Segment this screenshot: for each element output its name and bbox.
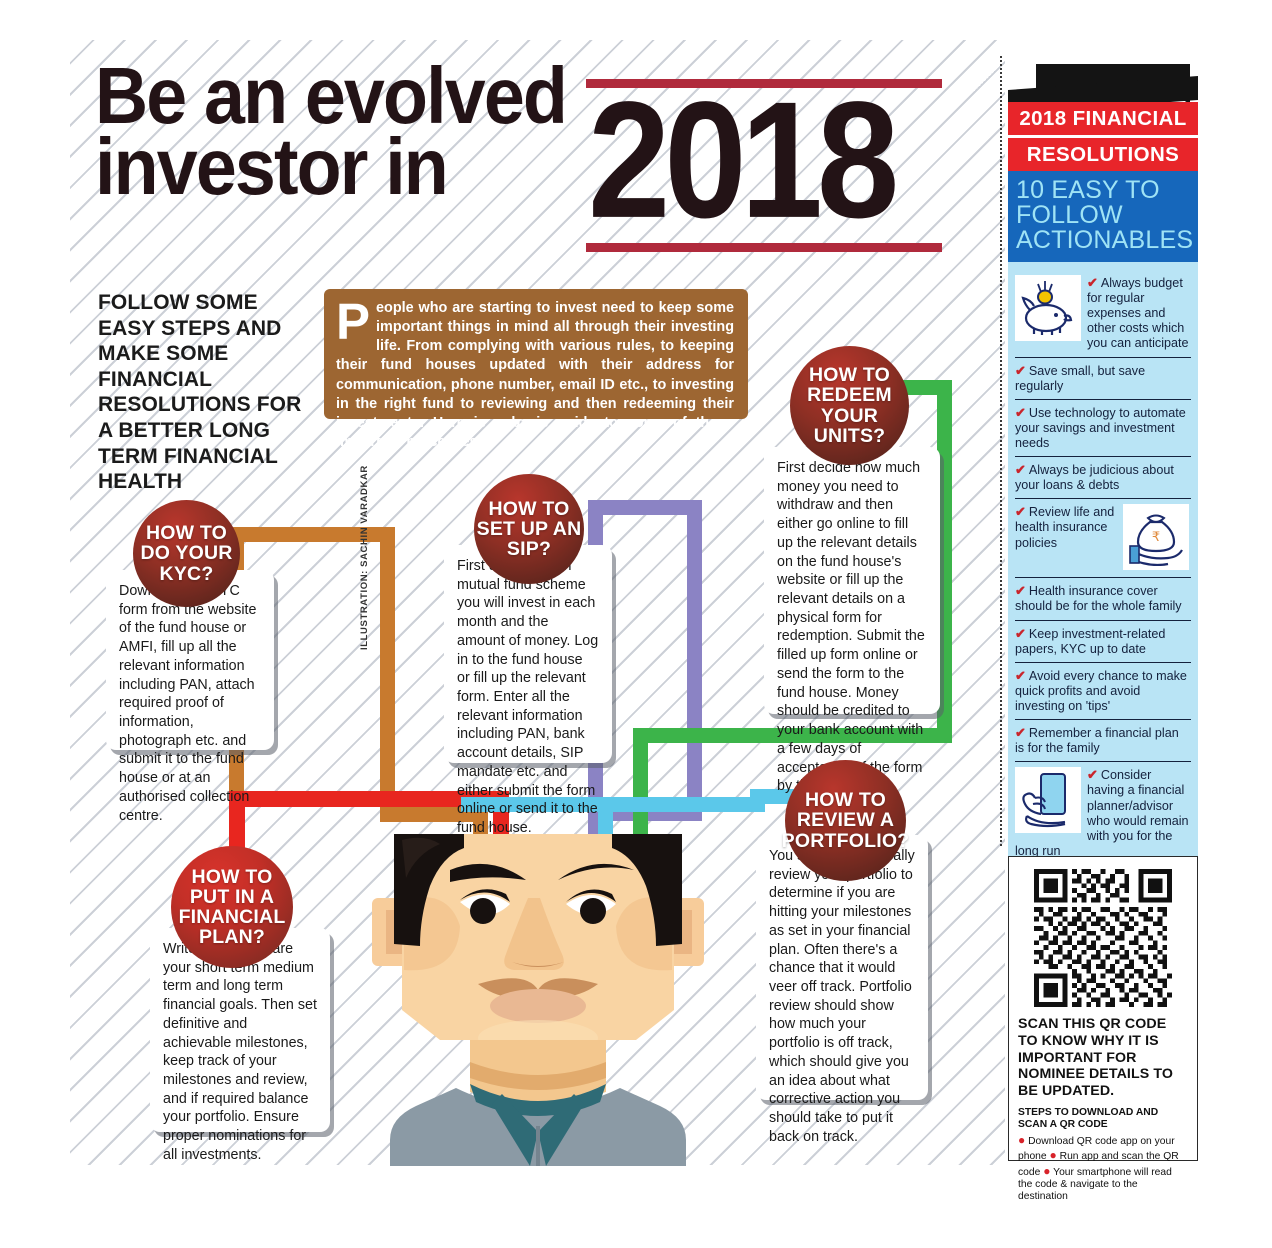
bubble-sip[interactable]: HOW TO SET UP AN SIP? bbox=[474, 474, 584, 584]
infographic-page: Be an evolved investor in 2018 FOLLOW SO… bbox=[0, 0, 1272, 1248]
resolution-text: Remember a financial plan is for the fam… bbox=[1015, 726, 1179, 755]
ribbon-decoration bbox=[1008, 60, 1198, 108]
resolution-item-9: ✔Remember a financial plan is for the fa… bbox=[1015, 720, 1191, 762]
check-icon: ✔ bbox=[1087, 767, 1098, 782]
card-plan-body: Write down what are your short term medi… bbox=[163, 941, 317, 1163]
pipe-sip-horizontal-top bbox=[590, 500, 702, 515]
check-icon: ✔ bbox=[1087, 275, 1098, 290]
qr-panel: SCAN THIS QR CODE TO KNOW WHY IT IS IMPO… bbox=[1008, 856, 1198, 1161]
bubble-plan[interactable]: HOW TO PUT IN A FINANCIAL PLAN? bbox=[171, 846, 293, 968]
smartphone-in-hand-icon bbox=[1015, 767, 1081, 833]
check-icon: ✔ bbox=[1015, 583, 1026, 598]
investor-illustration bbox=[352, 826, 724, 1166]
banner-resolutions: RESOLUTIONS bbox=[1008, 138, 1198, 171]
resolution-item-10: ✔Consider having a financial planner/adv… bbox=[1015, 762, 1191, 864]
intro-dropcap: P bbox=[336, 301, 370, 343]
check-icon: ✔ bbox=[1015, 405, 1026, 420]
bullet-dot-icon: ● bbox=[1050, 1148, 1057, 1162]
qr-steps: ● Download QR code app on your phone ● R… bbox=[1018, 1133, 1188, 1204]
check-icon: ✔ bbox=[1015, 725, 1026, 740]
check-icon: ✔ bbox=[1015, 363, 1026, 378]
resolution-item-3: ✔Use technology to automate your savings… bbox=[1015, 400, 1191, 457]
resolution-item-4: ✔Always be judicious about your loans & … bbox=[1015, 457, 1191, 499]
qr-code-image bbox=[1034, 869, 1172, 1007]
resolution-item-2: ✔Save small, but save regularly bbox=[1015, 358, 1191, 400]
card-redeem: First decide how much money you need to … bbox=[764, 447, 940, 714]
bullet-dot-icon: ● bbox=[1043, 1164, 1050, 1178]
piggy-bank-icon bbox=[1015, 275, 1081, 341]
kicker-text: FOLLOW SOME EASY STEPS AND MAKE SOME FIN… bbox=[98, 290, 318, 495]
check-icon: ✔ bbox=[1015, 462, 1026, 477]
resolution-text: Review life and health insurance policie… bbox=[1015, 505, 1114, 549]
resolution-text: Always budget for regular expenses and o… bbox=[1087, 276, 1189, 350]
resolutions-list: ✔Always budget for regular expenses and … bbox=[1008, 262, 1198, 874]
bubble-kyc[interactable]: HOW TO DO YOUR KYC? bbox=[133, 500, 240, 607]
bubble-redeem[interactable]: HOW TO REDEEM YOUR UNITS? bbox=[790, 346, 909, 465]
qr-step-3: Your smartphone will read the code & nav… bbox=[1018, 1167, 1172, 1203]
bullet-dot-icon: ● bbox=[1018, 1133, 1025, 1147]
vertical-dotted-divider bbox=[1000, 56, 1002, 846]
year-headline: 2018 bbox=[588, 78, 893, 244]
svg-text:₹: ₹ bbox=[1152, 530, 1160, 545]
resolution-item-8: ✔Avoid every chance to make quick profit… bbox=[1015, 663, 1191, 720]
resolution-item-5: ₹ ✔Review life and health insurance poli… bbox=[1015, 499, 1191, 578]
bubble-redeem-label: HOW TO REDEEM YOUR UNITS? bbox=[790, 365, 909, 445]
resolution-item-7: ✔Keep investment-related papers, KYC up … bbox=[1015, 621, 1191, 663]
illustration-credit: ILLUSTRATION: SACHIN VARADKAR bbox=[359, 465, 370, 650]
resolution-item-6: ✔Health insurance cover should be for th… bbox=[1015, 578, 1191, 620]
resolution-item-1: ✔Always budget for regular expenses and … bbox=[1015, 270, 1191, 358]
check-icon: ✔ bbox=[1015, 668, 1026, 683]
resolution-text: Health insurance cover should be for the… bbox=[1015, 584, 1182, 613]
bubble-sip-label: HOW TO SET UP AN SIP? bbox=[474, 499, 584, 559]
bubble-review[interactable]: HOW TO REVIEW A PORTFOLIO? bbox=[785, 760, 906, 881]
bubble-review-label: HOW TO REVIEW A PORTFOLIO? bbox=[782, 790, 910, 850]
pipe-kyc-vertical-right bbox=[380, 527, 395, 822]
resolution-text: Use technology to automate your savings … bbox=[1015, 406, 1186, 450]
intro-body: eople who are starting to invest need to… bbox=[336, 300, 734, 450]
resolution-text: Avoid every chance to make quick profits… bbox=[1015, 669, 1187, 713]
card-kyc-body: Download the KYC form from the website o… bbox=[119, 583, 256, 824]
resolution-text: Keep investment-related papers, KYC up t… bbox=[1015, 627, 1165, 656]
qr-heading: SCAN THIS QR CODE TO KNOW WHY IT IS IMPO… bbox=[1018, 1016, 1188, 1100]
card-sip-body: First decide which mutual fund scheme yo… bbox=[457, 558, 598, 836]
resolution-text: Always be judicious about your loans & d… bbox=[1015, 463, 1174, 492]
money-bag-in-hand-icon: ₹ bbox=[1123, 504, 1189, 570]
resolutions-panel: 2018 FINANCIAL RESOLUTIONS 10 EASY TO FO… bbox=[1008, 60, 1198, 874]
pipe-sip-vertical-right bbox=[687, 500, 702, 820]
pipe-kyc-horizontal-top bbox=[229, 527, 395, 542]
bubble-kyc-label: HOW TO DO YOUR KYC? bbox=[133, 523, 240, 583]
qr-subheading: STEPS TO DOWNLOAD AND SCAN A QR CODE bbox=[1018, 1107, 1188, 1131]
blue-heading: 10 EASY TO FOLLOW ACTIONABLES bbox=[1008, 171, 1198, 262]
bubble-plan-label: HOW TO PUT IN A FINANCIAL PLAN? bbox=[171, 867, 293, 947]
banner-2018-financial: 2018 FINANCIAL bbox=[1008, 102, 1198, 135]
check-icon: ✔ bbox=[1015, 504, 1026, 519]
intro-box: People who are starting to invest need t… bbox=[324, 289, 748, 419]
card-review-body: You should periodically review your port… bbox=[769, 848, 915, 1145]
check-icon: ✔ bbox=[1015, 626, 1026, 641]
resolution-text: Save small, but save regularly bbox=[1015, 364, 1145, 393]
